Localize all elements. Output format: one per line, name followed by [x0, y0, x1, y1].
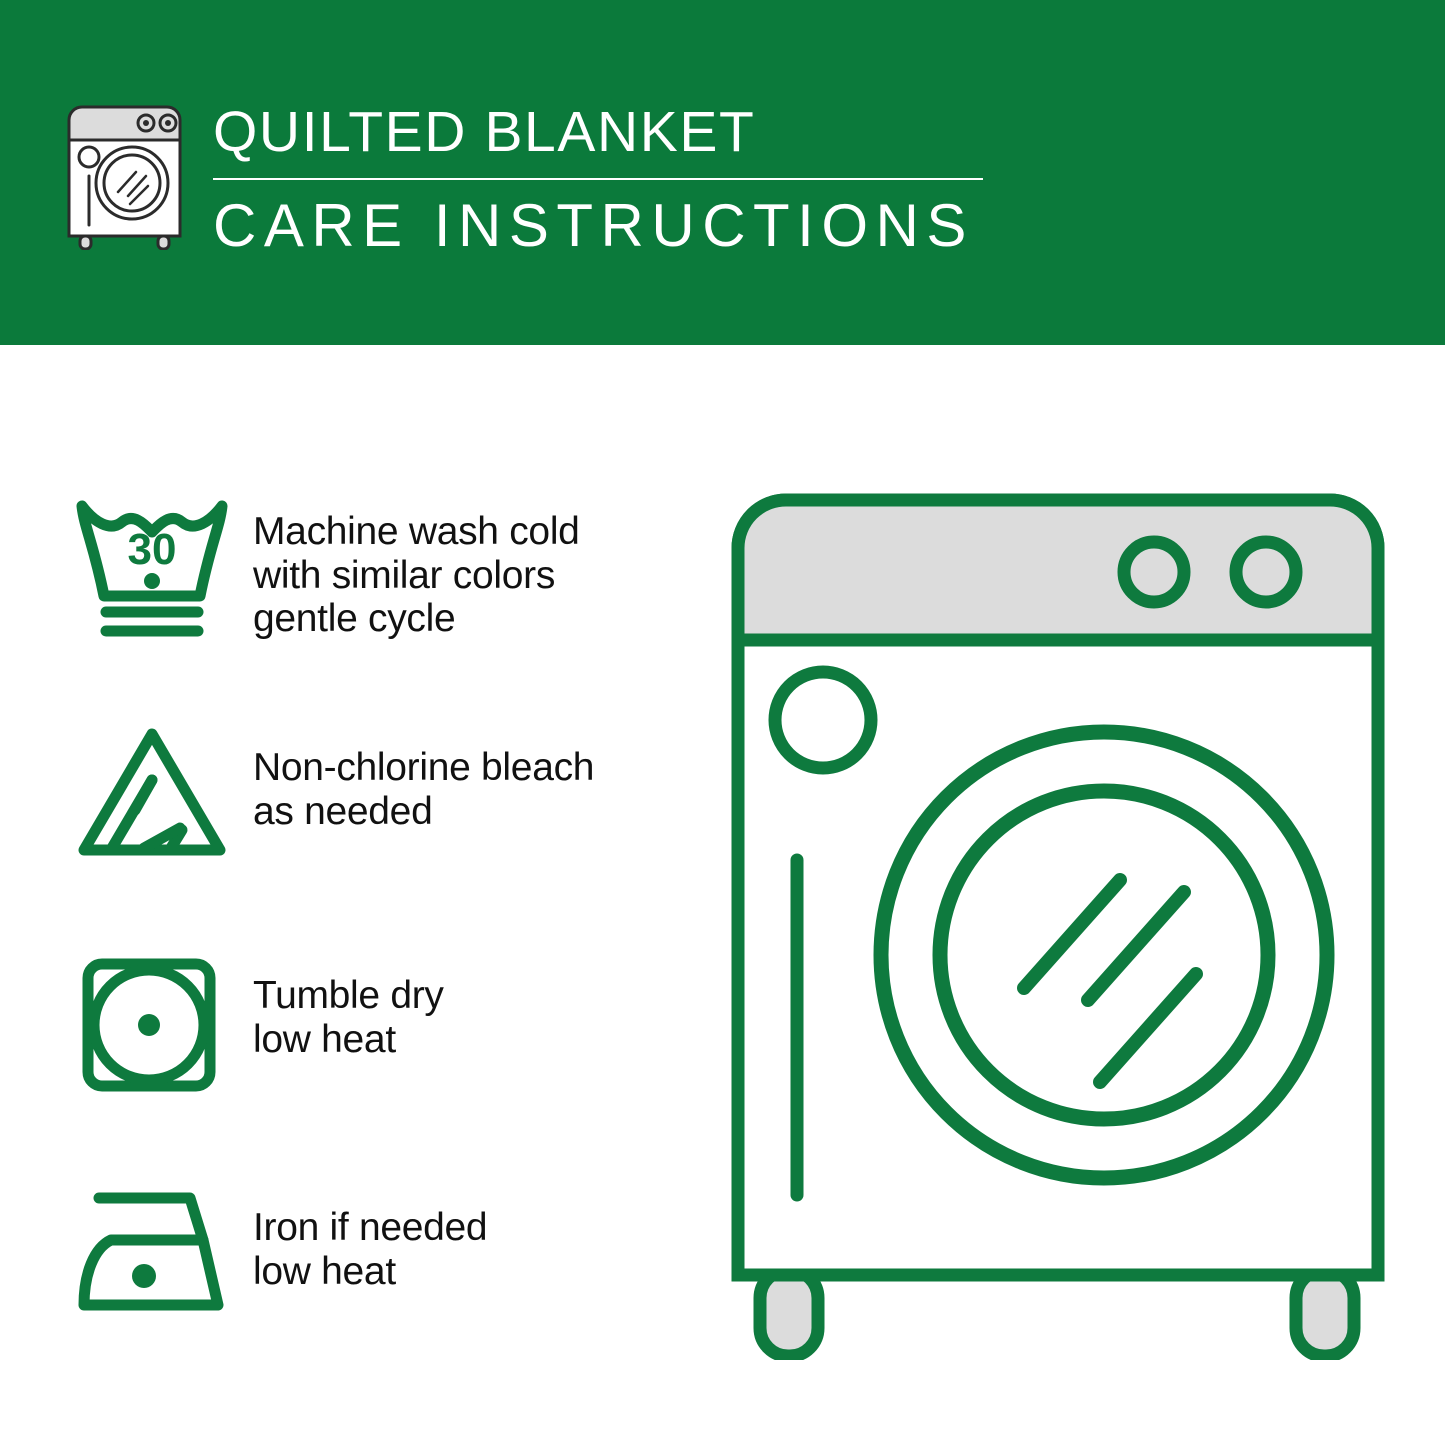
care-item-bleach: Non-chlorine bleach as needed: [62, 722, 682, 952]
page-subtitle: CARE INSTRUCTIONS: [213, 196, 983, 256]
header-title-block: QUILTED BLANKET CARE INSTRUCTIONS: [213, 100, 983, 256]
machine-leg-left: [760, 1270, 818, 1356]
iron-low-heat-icon: [62, 1182, 237, 1337]
page-header: QUILTED BLANKET CARE INSTRUCTIONS: [0, 0, 1445, 345]
care-text-line: gentle cycle: [253, 597, 580, 641]
care-text-line: low heat: [253, 1250, 487, 1294]
care-item-text: Iron if needed low heat: [237, 1182, 487, 1293]
washing-machine-icon: [62, 100, 187, 250]
tumble-dry-low-heat-icon: [62, 952, 237, 1107]
wash-tub-30-gentle-icon: 30: [62, 492, 237, 647]
care-item-text: Machine wash cold with similar colors ge…: [237, 492, 580, 641]
header-content: QUILTED BLANKET CARE INSTRUCTIONS: [62, 100, 983, 256]
machine-leg-right: [1296, 1270, 1354, 1356]
machine-dispenser: [775, 672, 871, 768]
care-item-text: Non-chlorine bleach as needed: [237, 722, 594, 833]
wash-temp-value: 30: [128, 525, 177, 574]
bleach-triangle-non-chlorine-icon: [62, 722, 237, 877]
care-text-line: low heat: [253, 1018, 444, 1062]
care-text-line: Tumble dry: [253, 974, 444, 1018]
machine-knob-left: [1124, 542, 1184, 602]
care-text-line: with similar colors: [253, 554, 580, 598]
care-item-iron: Iron if needed low heat: [62, 1182, 682, 1412]
care-text-line: as needed: [253, 790, 594, 834]
machine-knob-right: [1236, 542, 1296, 602]
washing-machine-illustration: [718, 480, 1398, 1360]
care-item-text: Tumble dry low heat: [237, 952, 444, 1061]
care-text-line: Non-chlorine bleach: [253, 746, 594, 790]
page-title: QUILTED BLANKET: [213, 104, 983, 161]
care-text-line: Iron if needed: [253, 1206, 487, 1250]
title-divider: [213, 178, 983, 180]
care-item-tumble-dry: Tumble dry low heat: [62, 952, 682, 1182]
care-text-line: Machine wash cold: [253, 510, 580, 554]
care-item-machine-wash: 30 Machine wash cold with similar colors…: [62, 492, 682, 722]
care-instruction-list: 30 Machine wash cold with similar colors…: [62, 492, 682, 1412]
